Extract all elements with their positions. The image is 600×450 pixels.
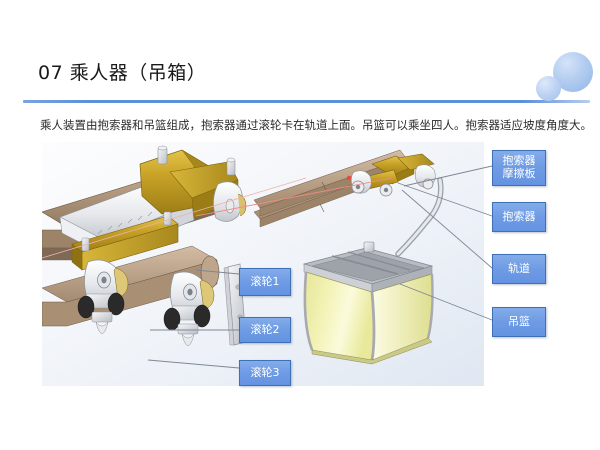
callout-label-roller-1[interactable]: 滚轮1 (239, 268, 291, 296)
callout-label-rail[interactable]: 轨道 (492, 254, 546, 284)
page-title: 07 乘人器（吊箱） (38, 58, 206, 85)
callout-label-friction-plate-line1: 抱索器 (503, 154, 536, 167)
callout-label-friction-plate[interactable]: 抱索器 摩擦板 (492, 150, 546, 186)
technical-diagram-image (42, 142, 484, 386)
callout-label-friction-plate-line2: 摩擦板 (503, 167, 536, 180)
cad-illustration (42, 142, 484, 386)
header-divider (23, 100, 590, 103)
callout-label-roller-3[interactable]: 滚轮3 (239, 360, 291, 386)
callout-label-grip[interactable]: 抱索器 (492, 202, 546, 232)
callout-label-cabin[interactable]: 吊篮 (492, 307, 546, 337)
callout-label-roller-2[interactable]: 滚轮2 (239, 317, 291, 343)
decorative-circle-small-icon (536, 76, 561, 101)
slide-description: 乘人装置由抱索器和吊篮组成，抱索器通过滚轮卡在轨道上面。吊篮可以乘坐四人。抱索器… (40, 117, 570, 133)
